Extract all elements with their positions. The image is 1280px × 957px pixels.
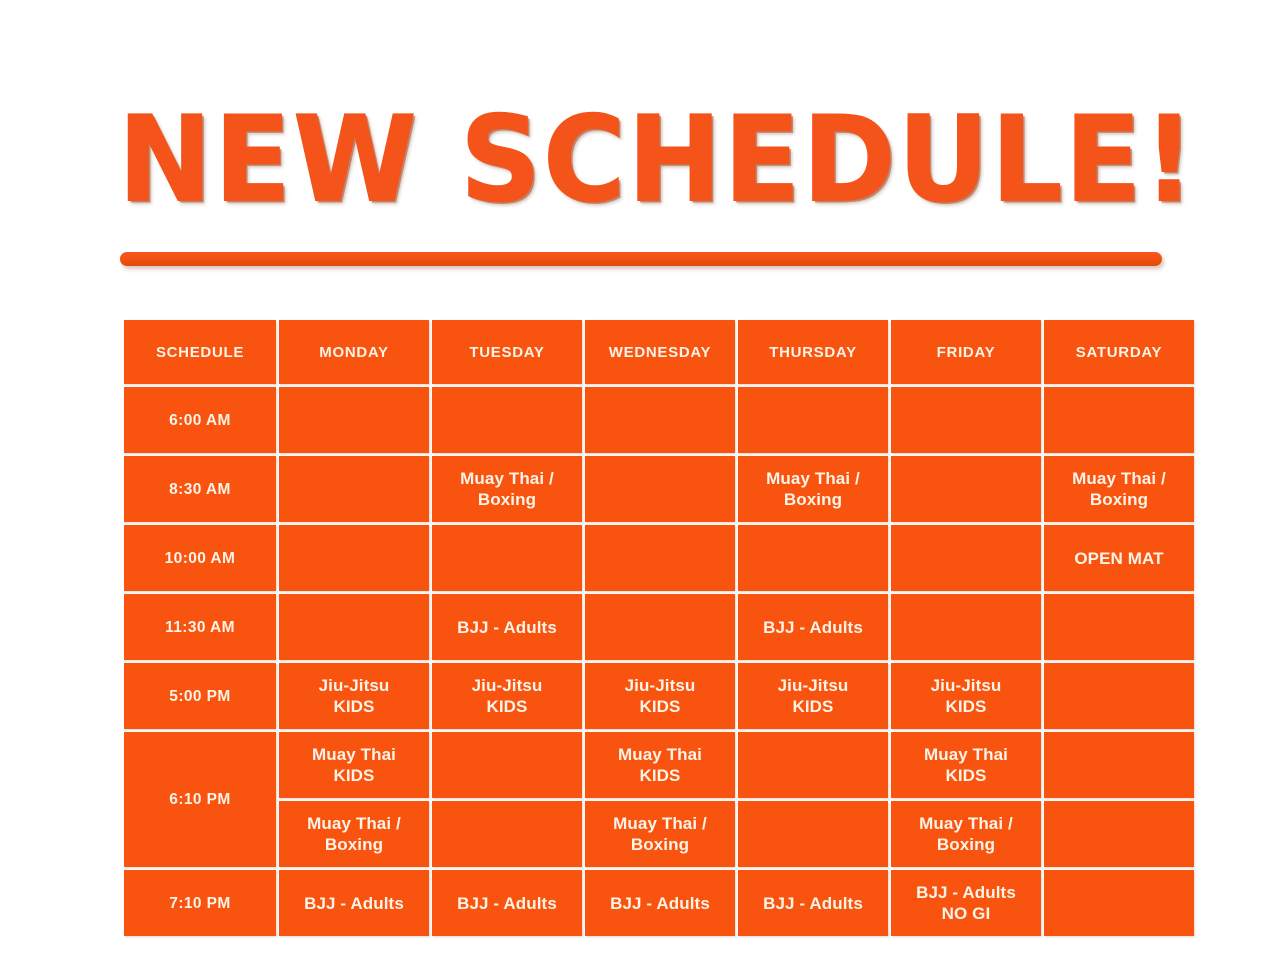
table-row: Muay Thai /Boxing Muay Thai /Boxing Muay… (124, 801, 1194, 867)
class-cell-monday: BJJ - Adults (279, 870, 429, 936)
class-cell-wednesday (585, 456, 735, 522)
class-cell-tuesday (432, 801, 582, 867)
class-cell-line: BJJ - Adults (432, 893, 582, 914)
table-row: 6:00 AM (124, 387, 1194, 453)
time-label: 6:00 AM (124, 387, 276, 453)
column-header-thursday: THURSDAY (738, 320, 888, 384)
class-cell-line: Muay Thai / (585, 813, 735, 834)
class-cell-line: KIDS (891, 696, 1041, 717)
class-cell-wednesday (585, 525, 735, 591)
column-header-saturday: SATURDAY (1044, 320, 1194, 384)
class-cell-saturday (1044, 870, 1194, 936)
class-cell-friday: Muay Thai /Boxing (891, 801, 1041, 867)
class-cell-line: KIDS (279, 696, 429, 717)
class-cell-line: Boxing (1044, 489, 1194, 510)
class-cell-thursday: Jiu-JitsuKIDS (738, 663, 888, 729)
class-cell-thursday: BJJ - Adults (738, 594, 888, 660)
class-cell-wednesday: Jiu-JitsuKIDS (585, 663, 735, 729)
class-cell-tuesday (432, 525, 582, 591)
class-cell-line: Muay Thai / (279, 813, 429, 834)
table-header-row: SCHEDULE MONDAY TUESDAY WEDNESDAY THURSD… (124, 320, 1194, 384)
class-cell-saturday: OPEN MAT (1044, 525, 1194, 591)
table-row: 5:00 PM Jiu-JitsuKIDS Jiu-JitsuKIDS Jiu-… (124, 663, 1194, 729)
class-cell-line: Muay Thai / (1044, 468, 1194, 489)
class-cell-wednesday: BJJ - Adults (585, 870, 735, 936)
class-cell-line: BJJ - Adults (738, 893, 888, 914)
class-cell-monday: Muay Thai /Boxing (279, 801, 429, 867)
time-label: 6:10 PM (124, 732, 276, 867)
class-cell-line: Boxing (738, 489, 888, 510)
class-cell-thursday: BJJ - Adults (738, 870, 888, 936)
time-label: 7:10 PM (124, 870, 276, 936)
class-cell-saturday (1044, 663, 1194, 729)
column-header-wednesday: WEDNESDAY (585, 320, 735, 384)
class-cell-saturday (1044, 801, 1194, 867)
class-cell-line: BJJ - Adults (738, 617, 888, 638)
class-cell-saturday (1044, 732, 1194, 798)
table-body: 6:00 AM 8:30 AM Muay Thai /Boxing Muay T… (124, 387, 1194, 936)
class-cell-line: Boxing (585, 834, 735, 855)
table-row: 11:30 AM BJJ - Adults BJJ - Adults (124, 594, 1194, 660)
class-cell-tuesday (432, 387, 582, 453)
class-cell-line: BJJ - Adults (279, 893, 429, 914)
time-label: 10:00 AM (124, 525, 276, 591)
class-cell-thursday (738, 525, 888, 591)
time-label: 5:00 PM (124, 663, 276, 729)
class-cell-line: Boxing (891, 834, 1041, 855)
class-cell-thursday: Muay Thai /Boxing (738, 456, 888, 522)
class-cell-line: Muay Thai / (891, 813, 1041, 834)
column-header-schedule: SCHEDULE (124, 320, 276, 384)
class-cell-line: KIDS (585, 765, 735, 786)
class-cell-thursday (738, 801, 888, 867)
class-cell-tuesday: BJJ - Adults (432, 870, 582, 936)
column-header-tuesday: TUESDAY (432, 320, 582, 384)
class-cell-line: BJJ - Adults (585, 893, 735, 914)
class-cell-line: KIDS (738, 696, 888, 717)
class-cell-thursday (738, 387, 888, 453)
class-cell-line: NO GI (891, 903, 1041, 924)
class-cell-line: Muay Thai / (432, 468, 582, 489)
class-cell-friday (891, 387, 1041, 453)
table-row: 7:10 PM BJJ - Adults BJJ - Adults BJJ - … (124, 870, 1194, 936)
class-cell-line: KIDS (585, 696, 735, 717)
class-cell-friday (891, 456, 1041, 522)
class-cell-thursday (738, 732, 888, 798)
class-cell-tuesday: BJJ - Adults (432, 594, 582, 660)
class-cell-line: Jiu-Jitsu (432, 675, 582, 696)
page-title: NEW SCHEDULE! (118, 96, 1208, 226)
class-cell-friday (891, 525, 1041, 591)
class-cell-tuesday: Muay Thai /Boxing (432, 456, 582, 522)
class-cell-monday (279, 387, 429, 453)
class-cell-line: Jiu-Jitsu (585, 675, 735, 696)
table-row: 8:30 AM Muay Thai /Boxing Muay Thai /Box… (124, 456, 1194, 522)
class-cell-monday (279, 456, 429, 522)
class-cell-wednesday (585, 387, 735, 453)
time-label: 11:30 AM (124, 594, 276, 660)
title-divider-bar (120, 252, 1162, 266)
class-cell-line: KIDS (891, 765, 1041, 786)
table-header: SCHEDULE MONDAY TUESDAY WEDNESDAY THURSD… (124, 320, 1194, 384)
class-cell-line: Muay Thai (279, 744, 429, 765)
table-row: 6:10 PM Muay ThaiKIDS Muay ThaiKIDS Muay… (124, 732, 1194, 798)
class-cell-line: BJJ - Adults (891, 882, 1041, 903)
schedule-poster: NEW SCHEDULE! SCHEDULE MONDAY TUESDAY WE… (0, 0, 1280, 957)
class-cell-monday (279, 525, 429, 591)
class-cell-monday (279, 594, 429, 660)
class-cell-wednesday (585, 594, 735, 660)
class-cell-line: KIDS (432, 696, 582, 717)
class-cell-saturday (1044, 387, 1194, 453)
class-cell-line: Jiu-Jitsu (891, 675, 1041, 696)
class-cell-saturday: Muay Thai /Boxing (1044, 456, 1194, 522)
class-cell-line: Muay Thai (585, 744, 735, 765)
time-label: 8:30 AM (124, 456, 276, 522)
column-header-friday: FRIDAY (891, 320, 1041, 384)
class-cell-tuesday: Jiu-JitsuKIDS (432, 663, 582, 729)
poster-title-container: NEW SCHEDULE! (118, 96, 1166, 224)
class-cell-tuesday (432, 732, 582, 798)
class-cell-line: KIDS (279, 765, 429, 786)
class-cell-friday: BJJ - AdultsNO GI (891, 870, 1041, 936)
class-cell-friday: Jiu-JitsuKIDS (891, 663, 1041, 729)
column-header-monday: MONDAY (279, 320, 429, 384)
class-cell-line: Muay Thai / (738, 468, 888, 489)
class-cell-wednesday: Muay ThaiKIDS (585, 732, 735, 798)
class-cell-line: Muay Thai (891, 744, 1041, 765)
class-cell-line: Jiu-Jitsu (738, 675, 888, 696)
class-cell-monday: Jiu-JitsuKIDS (279, 663, 429, 729)
class-cell-wednesday: Muay Thai /Boxing (585, 801, 735, 867)
class-cell-friday (891, 594, 1041, 660)
class-cell-line: Jiu-Jitsu (279, 675, 429, 696)
class-cell-line: BJJ - Adults (432, 617, 582, 638)
class-cell-line: Boxing (279, 834, 429, 855)
class-cell-saturday (1044, 594, 1194, 660)
schedule-table: SCHEDULE MONDAY TUESDAY WEDNESDAY THURSD… (121, 317, 1197, 939)
class-cell-line: Boxing (432, 489, 582, 510)
table-row: 10:00 AM OPEN MAT (124, 525, 1194, 591)
class-cell-line: OPEN MAT (1044, 548, 1194, 569)
class-cell-monday: Muay ThaiKIDS (279, 732, 429, 798)
class-cell-friday: Muay ThaiKIDS (891, 732, 1041, 798)
